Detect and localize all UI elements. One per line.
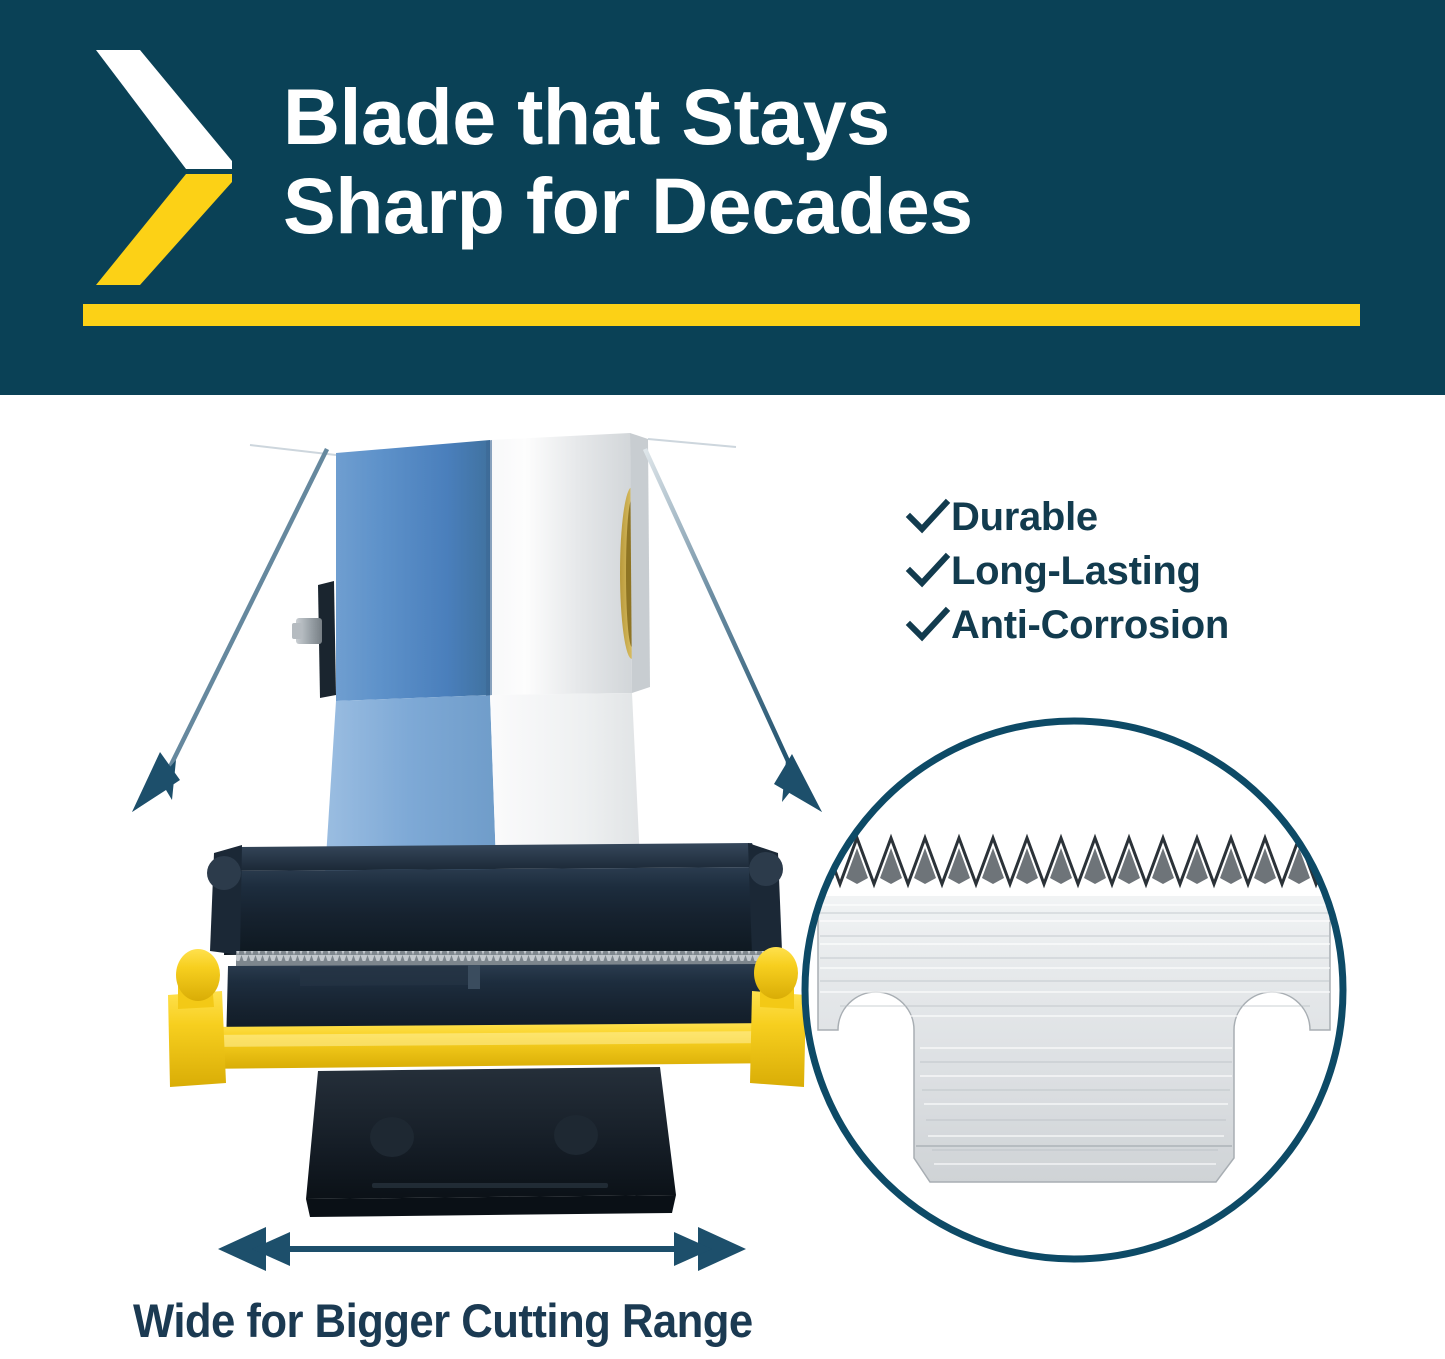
title-line-1: Blade that Stays — [283, 72, 1343, 161]
page-title: Blade that Stays Sharp for Decades — [283, 72, 1343, 250]
content-area: Durable Long-Lasting Anti-Corrosion Wide… — [0, 395, 1445, 1359]
feature-label-anti-corrosion: Anti-Corrosion — [951, 604, 1229, 646]
header-banner: Blade that Stays Sharp for Decades — [0, 0, 1445, 395]
feature-list: Durable Long-Lasting Anti-Corrosion — [905, 490, 1229, 652]
yellow-underline-bar — [83, 304, 1360, 326]
list-item: Durable — [905, 490, 1229, 543]
chevron-right-icon — [82, 50, 232, 285]
check-icon — [905, 551, 951, 591]
check-icon — [905, 605, 951, 645]
list-item: Anti-Corrosion — [905, 598, 1229, 651]
feature-label-durable: Durable — [951, 496, 1098, 538]
width-caption: Wide for Bigger Cutting Range — [133, 1293, 753, 1348]
feature-label-long-lasting: Long-Lasting — [951, 550, 1201, 592]
check-icon — [905, 497, 951, 537]
list-item: Long-Lasting — [905, 544, 1229, 597]
title-line-2: Sharp for Decades — [283, 161, 1343, 250]
